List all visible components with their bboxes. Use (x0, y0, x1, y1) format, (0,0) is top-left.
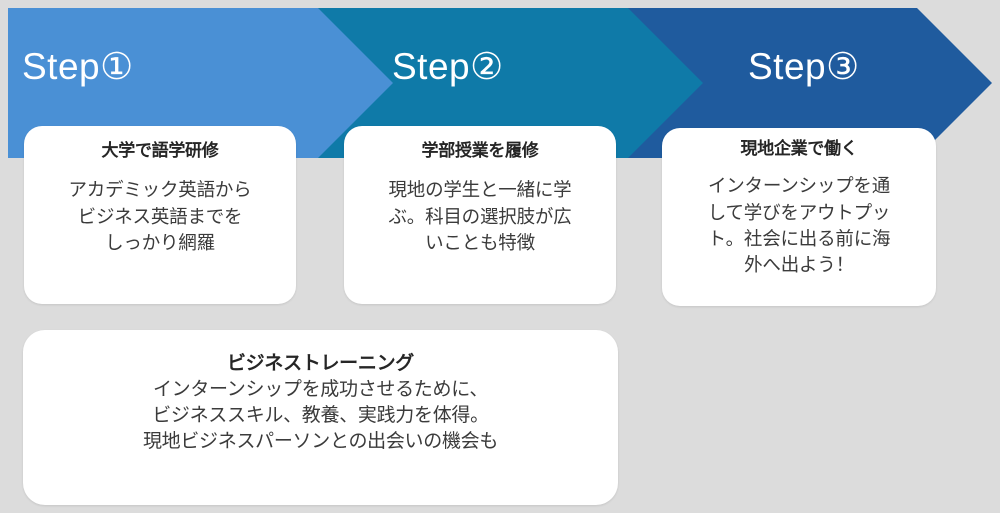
step-card-1-line-1: アカデミック英語から (68, 179, 251, 200)
step-card-1[interactable]: 大学で語学研修 アカデミック英語から ビジネス英語までを しっかり網羅 (24, 126, 296, 304)
step-card-2[interactable]: 学部授業を履修 現地の学生と一緒に学 ぶ。科目の選択肢が広 いことも特徴 (344, 126, 616, 304)
step-card-1-body: アカデミック英語から ビジネス英語までを しっかり網羅 (38, 177, 282, 256)
business-training-line-2: ビジネススキル、教養、実践力を体得。 (23, 403, 618, 429)
chevron-label-step-2: Step② (392, 48, 504, 85)
step-card-3-body: インターンシップを通 して学びをアウトプッ ト。社会に出る前に海 外へ出よう！ (672, 173, 926, 278)
step-card-2-line-2: ぶ。科目の選択肢が広 (388, 206, 571, 227)
step-card-1-line-2: ビジネス英語までを (78, 206, 243, 227)
step-card-3-line-2: して学びをアウトプッ (708, 202, 890, 223)
step-card-2-body: 現地の学生と一緒に学 ぶ。科目の選択肢が広 いことも特徴 (358, 177, 602, 256)
chevron-label-step-1: Step① (22, 48, 134, 85)
step-card-2-line-1: 現地の学生と一緒に学 (388, 179, 571, 200)
slide-canvas: Step① Step② Step③ 大学で語学研修 アカデミック英語から ビジネ… (0, 0, 1000, 513)
chevron-label-step-3: Step③ (748, 48, 860, 85)
step-card-3-line-1: インターンシップを通 (708, 175, 890, 196)
step-card-2-title: 学部授業を履修 (358, 140, 602, 161)
step-card-1-line-3: しっかり網羅 (105, 232, 215, 253)
business-training-line-3: 現地ビジネスパーソンとの出会いの機会も (23, 429, 618, 455)
business-training-title: ビジネストレーニング (23, 352, 618, 377)
step-card-2-line-3: いことも特徴 (425, 232, 535, 253)
step-card-3-line-4: 外へ出よう！ (744, 254, 854, 275)
step-card-1-title: 大学で語学研修 (38, 140, 282, 161)
business-training-card[interactable]: ビジネストレーニング インターンシップを成功させるために、 ビジネススキル、教養… (23, 330, 618, 505)
business-training-line-1: インターンシップを成功させるために、 (23, 377, 618, 403)
step-card-3-line-3: ト。社会に出る前に海 (708, 228, 891, 249)
step-card-3[interactable]: 現地企業で働く インターンシップを通 して学びをアウトプッ ト。社会に出る前に海… (662, 128, 936, 306)
step-card-3-title: 現地企業で働く (672, 138, 926, 159)
